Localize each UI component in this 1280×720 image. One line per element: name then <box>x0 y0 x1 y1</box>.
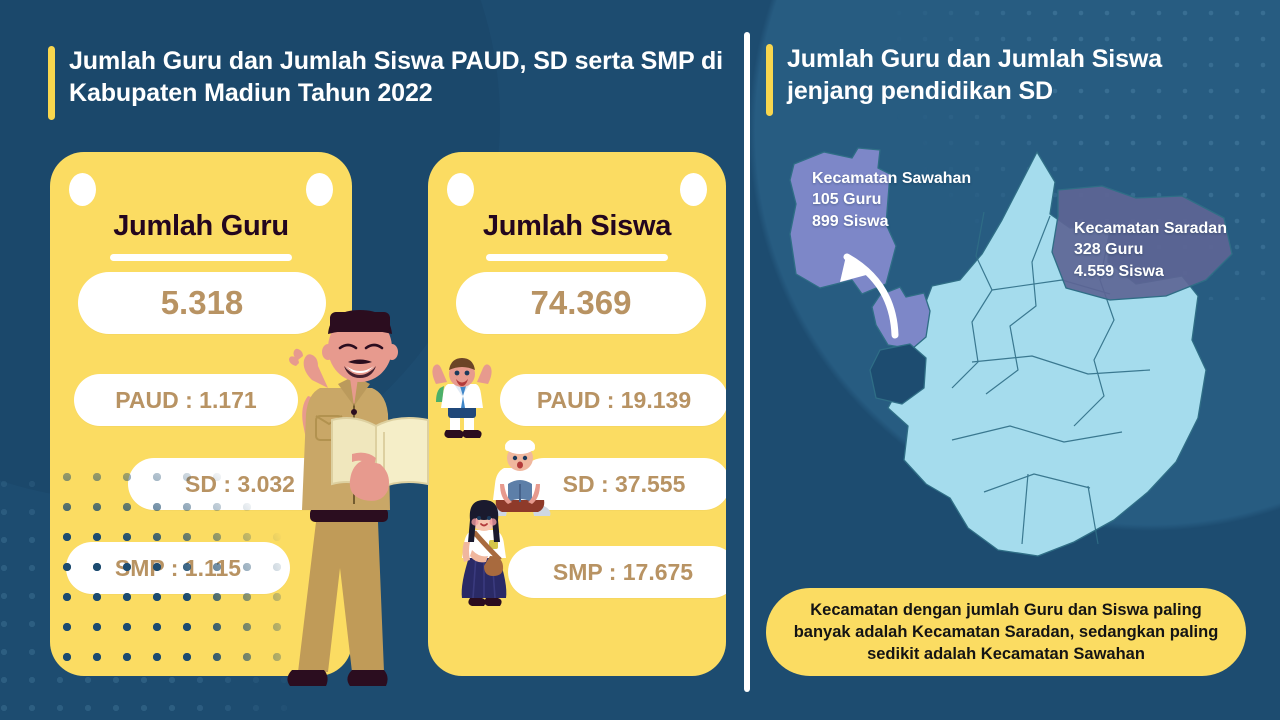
guru-paud-value: PAUD : 1.171 <box>74 374 298 426</box>
siswa-smp-value: SMP : 17.675 <box>508 546 726 598</box>
map-label-saradan-guru: 328 Guru <box>1074 239 1227 260</box>
left-headline: Jumlah Guru dan Jumlah Siswa PAUD, SD se… <box>48 46 738 120</box>
right-headline-text: Jumlah Guru dan Jumlah Siswa jenjang pen… <box>787 44 1246 108</box>
map-label-sawahan-name: Kecamatan Sawahan <box>812 168 971 189</box>
madiun-district-map: Kecamatan Sawahan 105 Guru 899 Siswa Kec… <box>762 140 1272 570</box>
infographic-canvas: Jumlah Guru dan Jumlah Siswa PAUD, SD se… <box>0 0 1280 720</box>
right-headline: Jumlah Guru dan Jumlah Siswa jenjang pen… <box>766 44 1246 116</box>
headline-accent-bar <box>766 44 773 116</box>
siswa-paud-value: PAUD : 19.139 <box>500 374 726 426</box>
card-title-siswa: Jumlah Siswa <box>428 210 726 243</box>
headline-accent-bar <box>48 46 55 120</box>
card-title-rule <box>486 254 668 261</box>
map-region-sawahan-body <box>872 287 930 349</box>
card-title-rule <box>110 254 292 261</box>
punch-hole-left-icon <box>69 173 96 206</box>
guru-smp-value: SMP : 1.115 <box>66 542 290 594</box>
summary-note-text: Kecamatan dengan jumlah Guru dan Siswa p… <box>788 599 1224 666</box>
map-label-saradan-siswa: 4.559 Siswa <box>1074 261 1227 282</box>
summary-note-box: Kecamatan dengan jumlah Guru dan Siswa p… <box>766 588 1246 676</box>
siswa-total-value: 74.369 <box>456 272 706 334</box>
vertical-divider <box>744 32 750 692</box>
map-label-saradan: Kecamatan Saradan 328 Guru 4.559 Siswa <box>1074 218 1227 282</box>
left-headline-text: Jumlah Guru dan Jumlah Siswa PAUD, SD se… <box>69 46 738 110</box>
map-label-sawahan: Kecamatan Sawahan 105 Guru 899 Siswa <box>812 168 971 232</box>
punch-hole-left-icon <box>447 173 474 206</box>
punch-hole-right-icon <box>306 173 333 206</box>
map-label-saradan-name: Kecamatan Saradan <box>1074 218 1227 239</box>
map-label-sawahan-siswa: 899 Siswa <box>812 211 971 232</box>
map-label-sawahan-guru: 105 Guru <box>812 189 971 210</box>
card-title-guru: Jumlah Guru <box>50 210 352 243</box>
punch-hole-right-icon <box>680 173 707 206</box>
teacher-illustration <box>268 308 468 720</box>
